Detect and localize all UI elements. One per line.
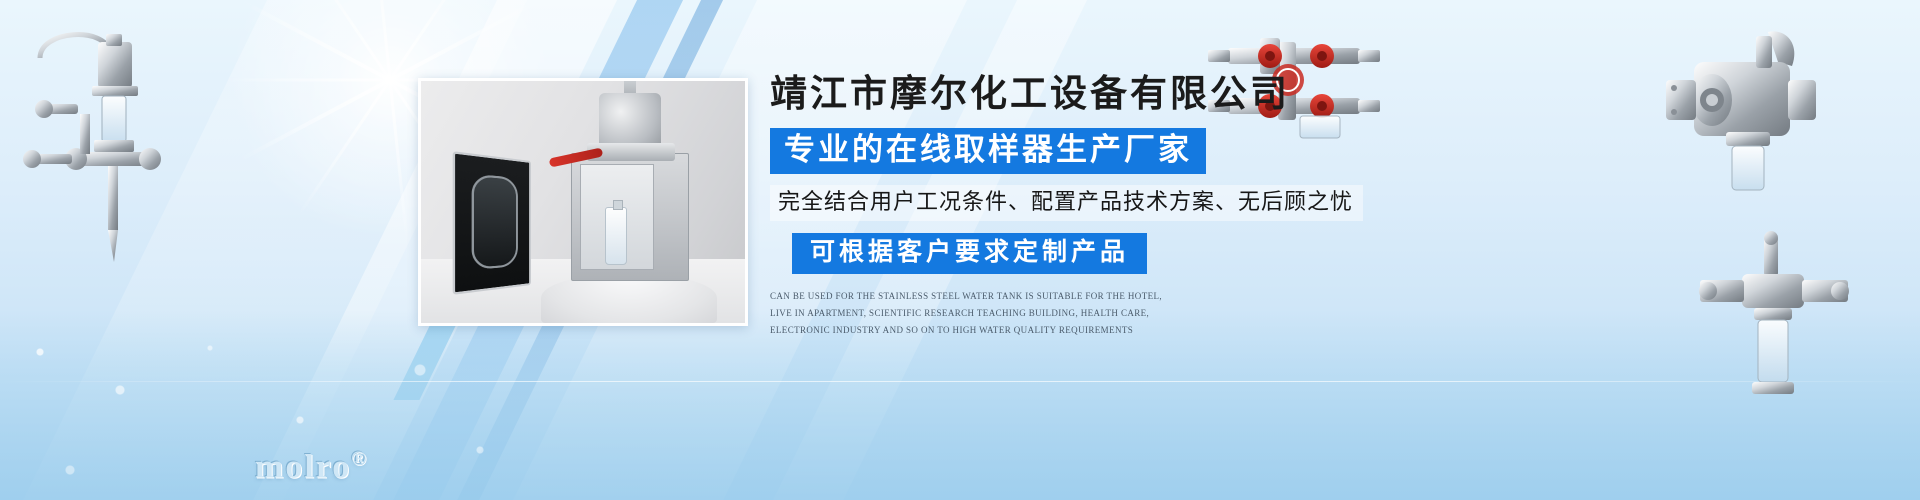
banner-text-block: 靖江市摩尔化工设备有限公司 专业的在线取样器生产厂家 完全结合用户工况条件、配置…: [770, 72, 1410, 338]
sampler-cabinet: [571, 153, 689, 281]
cabinet-interior: [580, 164, 654, 270]
equipment-stainless-sampling-valve: [1690, 230, 1860, 410]
company-name: 靖江市摩尔化工设备有限公司: [770, 72, 1410, 118]
product-photo: [418, 78, 748, 326]
brand-watermark-logo: molro®: [255, 448, 366, 486]
supporting-slogan-line: 完全结合用户工况条件、配置产品技术方案、无后顾之忧: [770, 185, 1363, 220]
equipment-valve-body-sampler: [1660, 22, 1840, 202]
sun-ray-icon: [371, 0, 408, 244]
door-window: [472, 174, 518, 270]
promotional-banner: 靖江市摩尔化工设备有限公司 专业的在线取样器生产厂家 完全结合用户工况条件、配置…: [0, 0, 1920, 500]
water-horizon-line: [0, 381, 1920, 382]
equipment-left-sampler-assembly: [10, 18, 190, 278]
sample-bottle: [605, 207, 627, 265]
brand-name: molro: [255, 448, 351, 485]
primary-slogan-badge: 专业的在线取样器生产厂家: [770, 128, 1206, 174]
registered-trademark-icon: ®: [351, 448, 366, 470]
customization-badge: 可根据客户要求定制产品: [792, 233, 1147, 275]
cabinet-door: [453, 151, 531, 295]
english-description: CAN BE USED FOR THE STAINLESS STEEL WATE…: [770, 288, 1170, 338]
